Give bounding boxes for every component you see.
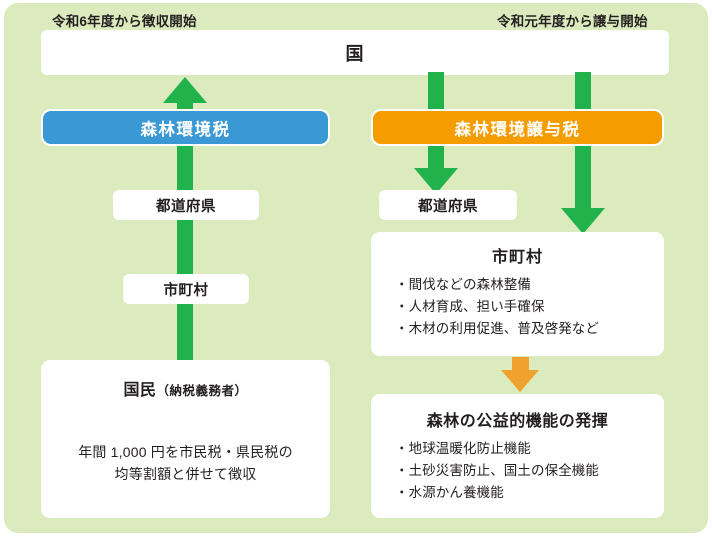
right-municipality-detail-box: 市町村 ・間伐などの森林整備 ・人材育成、担い手確保 ・木材の利用促進、普及啓発…	[371, 232, 664, 356]
left-arrow-head-up	[163, 77, 207, 103]
public-function-box: 森林の公益的機能の発揮 ・地球温暖化防止機能 ・土砂災害防止、国土の保全機能 ・…	[371, 394, 664, 518]
citizens-title-sub: （納税義務者）	[157, 384, 248, 398]
note-transfer-start: 令和元年度から譲与開始	[497, 10, 648, 30]
left-municipality-box: 市町村	[123, 274, 249, 304]
right-municipality-title: 市町村	[371, 243, 664, 267]
citizens-description-line1: 年間 1,000 円を市民税・県民税の	[55, 442, 316, 464]
citizens-description: 年間 1,000 円を市民税・県民税の 均等割額と併せて徴収	[55, 442, 316, 485]
list-item: ・土砂災害防止、国土の保全機能	[395, 460, 664, 482]
right-arrow-head-municipality	[561, 208, 605, 234]
forest-environment-tax-label: 森林環境税	[141, 116, 231, 140]
forest-environment-tax-diagram: 令和6年度から徴収開始 令和元年度から譲与開始 国 森林環境税 森林環境譲与税 …	[0, 0, 712, 537]
right-prefecture-label: 都道府県	[418, 195, 478, 216]
public-function-bullets: ・地球温暖化防止機能 ・土砂災害防止、国土の保全機能 ・水源かん養機能	[395, 438, 664, 504]
citizens-box: 国民（納税義務者） 年間 1,000 円を市民税・県民税の 均等割額と併せて徴収	[41, 360, 330, 518]
left-municipality-label: 市町村	[164, 279, 209, 300]
list-item: ・地球温暖化防止機能	[395, 438, 664, 460]
citizens-description-line2: 均等割額と併せて徴収	[55, 464, 316, 486]
left-prefecture-label: 都道府県	[156, 195, 216, 216]
forest-environment-tax-box: 森林環境税	[41, 109, 330, 146]
note-collection-start: 令和6年度から徴収開始	[52, 10, 197, 30]
right-municipality-bullets: ・間伐などの森林整備 ・人材育成、担い手確保 ・木材の利用促進、普及啓発など	[395, 274, 664, 340]
right-prefecture-box: 都道府県	[379, 190, 517, 220]
list-item: ・人材育成、担い手確保	[395, 296, 664, 318]
citizens-title: 国民（納税義務者）	[55, 376, 316, 400]
nation-box: 国	[41, 30, 669, 75]
list-item: ・木材の利用促進、普及啓発など	[395, 318, 664, 340]
list-item: ・間伐などの森林整備	[395, 274, 664, 296]
orange-arrow-head	[501, 370, 539, 392]
forest-environment-transfer-tax-label: 森林環境譲与税	[455, 116, 581, 140]
citizens-title-main: 国民	[123, 382, 156, 399]
nation-label: 国	[346, 40, 365, 66]
list-item: ・水源かん養機能	[395, 482, 664, 504]
forest-environment-transfer-tax-box: 森林環境譲与税	[371, 109, 664, 146]
public-function-title: 森林の公益的機能の発揮	[371, 407, 664, 431]
left-prefecture-box: 都道府県	[113, 190, 259, 220]
